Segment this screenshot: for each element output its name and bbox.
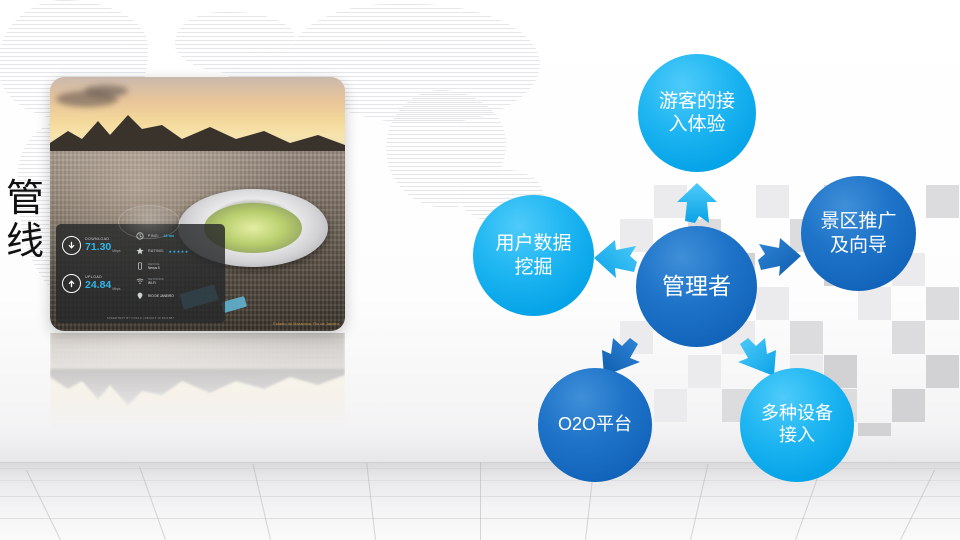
node-label-bottom-right: 多种设备接入: [740, 403, 854, 447]
rating-label: RATING:: [148, 249, 164, 253]
phone-icon: [136, 262, 144, 270]
device-value: Nexus 5: [148, 266, 160, 270]
speedtest-footer: SPEEDTEST BY OOKLA | RESULT ID 3021887: [56, 316, 225, 320]
decorative-tile: [926, 185, 959, 218]
location-row: RIO DE JANEIRO: [136, 292, 222, 300]
photo-card[interactable]: Estadio do Maracana, Rio de Janeiro DOWN…: [50, 77, 345, 331]
node-circle-right[interactable]: 景区推广及向导: [801, 176, 916, 291]
node-circle-top[interactable]: 游客的接入体验: [638, 54, 756, 172]
location-value: RIO DE JANEIRO: [148, 294, 174, 298]
ping-row: PING: 18 ms: [136, 232, 222, 240]
rating-stars: ★★★★★: [168, 249, 188, 254]
floor-line: [139, 466, 166, 540]
clock-icon: [136, 232, 144, 240]
decorative-tile: [756, 185, 789, 218]
download-value: 71.30: [85, 242, 111, 253]
location-pin-icon: [136, 292, 144, 300]
download-unit: Mbps: [112, 249, 120, 253]
page-title: 管线: [6, 177, 76, 262]
star-icon: [136, 247, 144, 255]
upload-value: 24.84: [85, 280, 111, 291]
node-circle-bottom-left[interactable]: O2O平台: [538, 368, 652, 482]
node-label-center: 管理者: [648, 272, 745, 300]
arrow-down-right-icon: [732, 334, 778, 376]
upload-unit: Mbps: [112, 287, 120, 291]
network-value: WI-FI: [148, 281, 164, 285]
decorative-tile: [858, 287, 891, 320]
node-circle-left[interactable]: 用户数据挖掘: [473, 195, 594, 316]
decorative-tile: [926, 287, 959, 320]
speedtest-details: PING: 18 ms RATING: ★★★★★ DEVICE Nexus 5: [136, 232, 222, 307]
node-label-bottom-left: O2O平台: [544, 414, 646, 436]
floor-line: [480, 462, 481, 540]
floor-line: [252, 464, 271, 540]
slide-canvas: DOWNLOAD71.30 UPLOAD24.84 Estadio do Ma: [0, 0, 960, 540]
rating-row: RATING: ★★★★★: [136, 247, 222, 255]
node-label-top: 游客的接入体验: [638, 90, 756, 136]
floor-line: [366, 462, 376, 540]
arrow-right-icon: [755, 236, 801, 278]
floor-line: [690, 464, 709, 540]
photo-cloud: [84, 85, 128, 97]
node-label-right: 景区推广及向导: [801, 210, 916, 256]
device-row: DEVICE Nexus 5: [136, 262, 222, 270]
ping-value: 18 ms: [163, 234, 174, 238]
upload-arrow-icon: [62, 274, 81, 293]
decorative-tile: [756, 287, 789, 320]
wifi-icon: [136, 277, 144, 285]
decorative-tile: [790, 321, 823, 354]
node-label-left: 用户数据挖掘: [473, 232, 594, 278]
decorative-tile: [892, 389, 925, 422]
photo-reflection: DOWNLOAD71.30 UPLOAD24.84: [50, 333, 345, 443]
network-row: NETWORK WI-FI: [136, 277, 222, 285]
ping-label: PING:: [148, 234, 159, 238]
decorative-tile: [688, 355, 721, 388]
decorative-tile: [926, 355, 959, 388]
decorative-tile: [892, 321, 925, 354]
arrow-left-icon: [594, 238, 638, 280]
decorative-tile: [654, 389, 687, 422]
photo-credit: Estadio do Maracana, Rio de Janeiro: [273, 321, 339, 326]
node-circle-bottom-right[interactable]: 多种设备接入: [740, 368, 854, 482]
speedtest-overlay: DOWNLOAD 71.30 Mbps UPLOAD 24.8: [56, 224, 225, 323]
node-circle-center[interactable]: 管理者: [636, 226, 757, 347]
arrow-up-icon: [675, 183, 719, 223]
upload-metric: UPLOAD 24.84 Mbps: [62, 274, 121, 293]
